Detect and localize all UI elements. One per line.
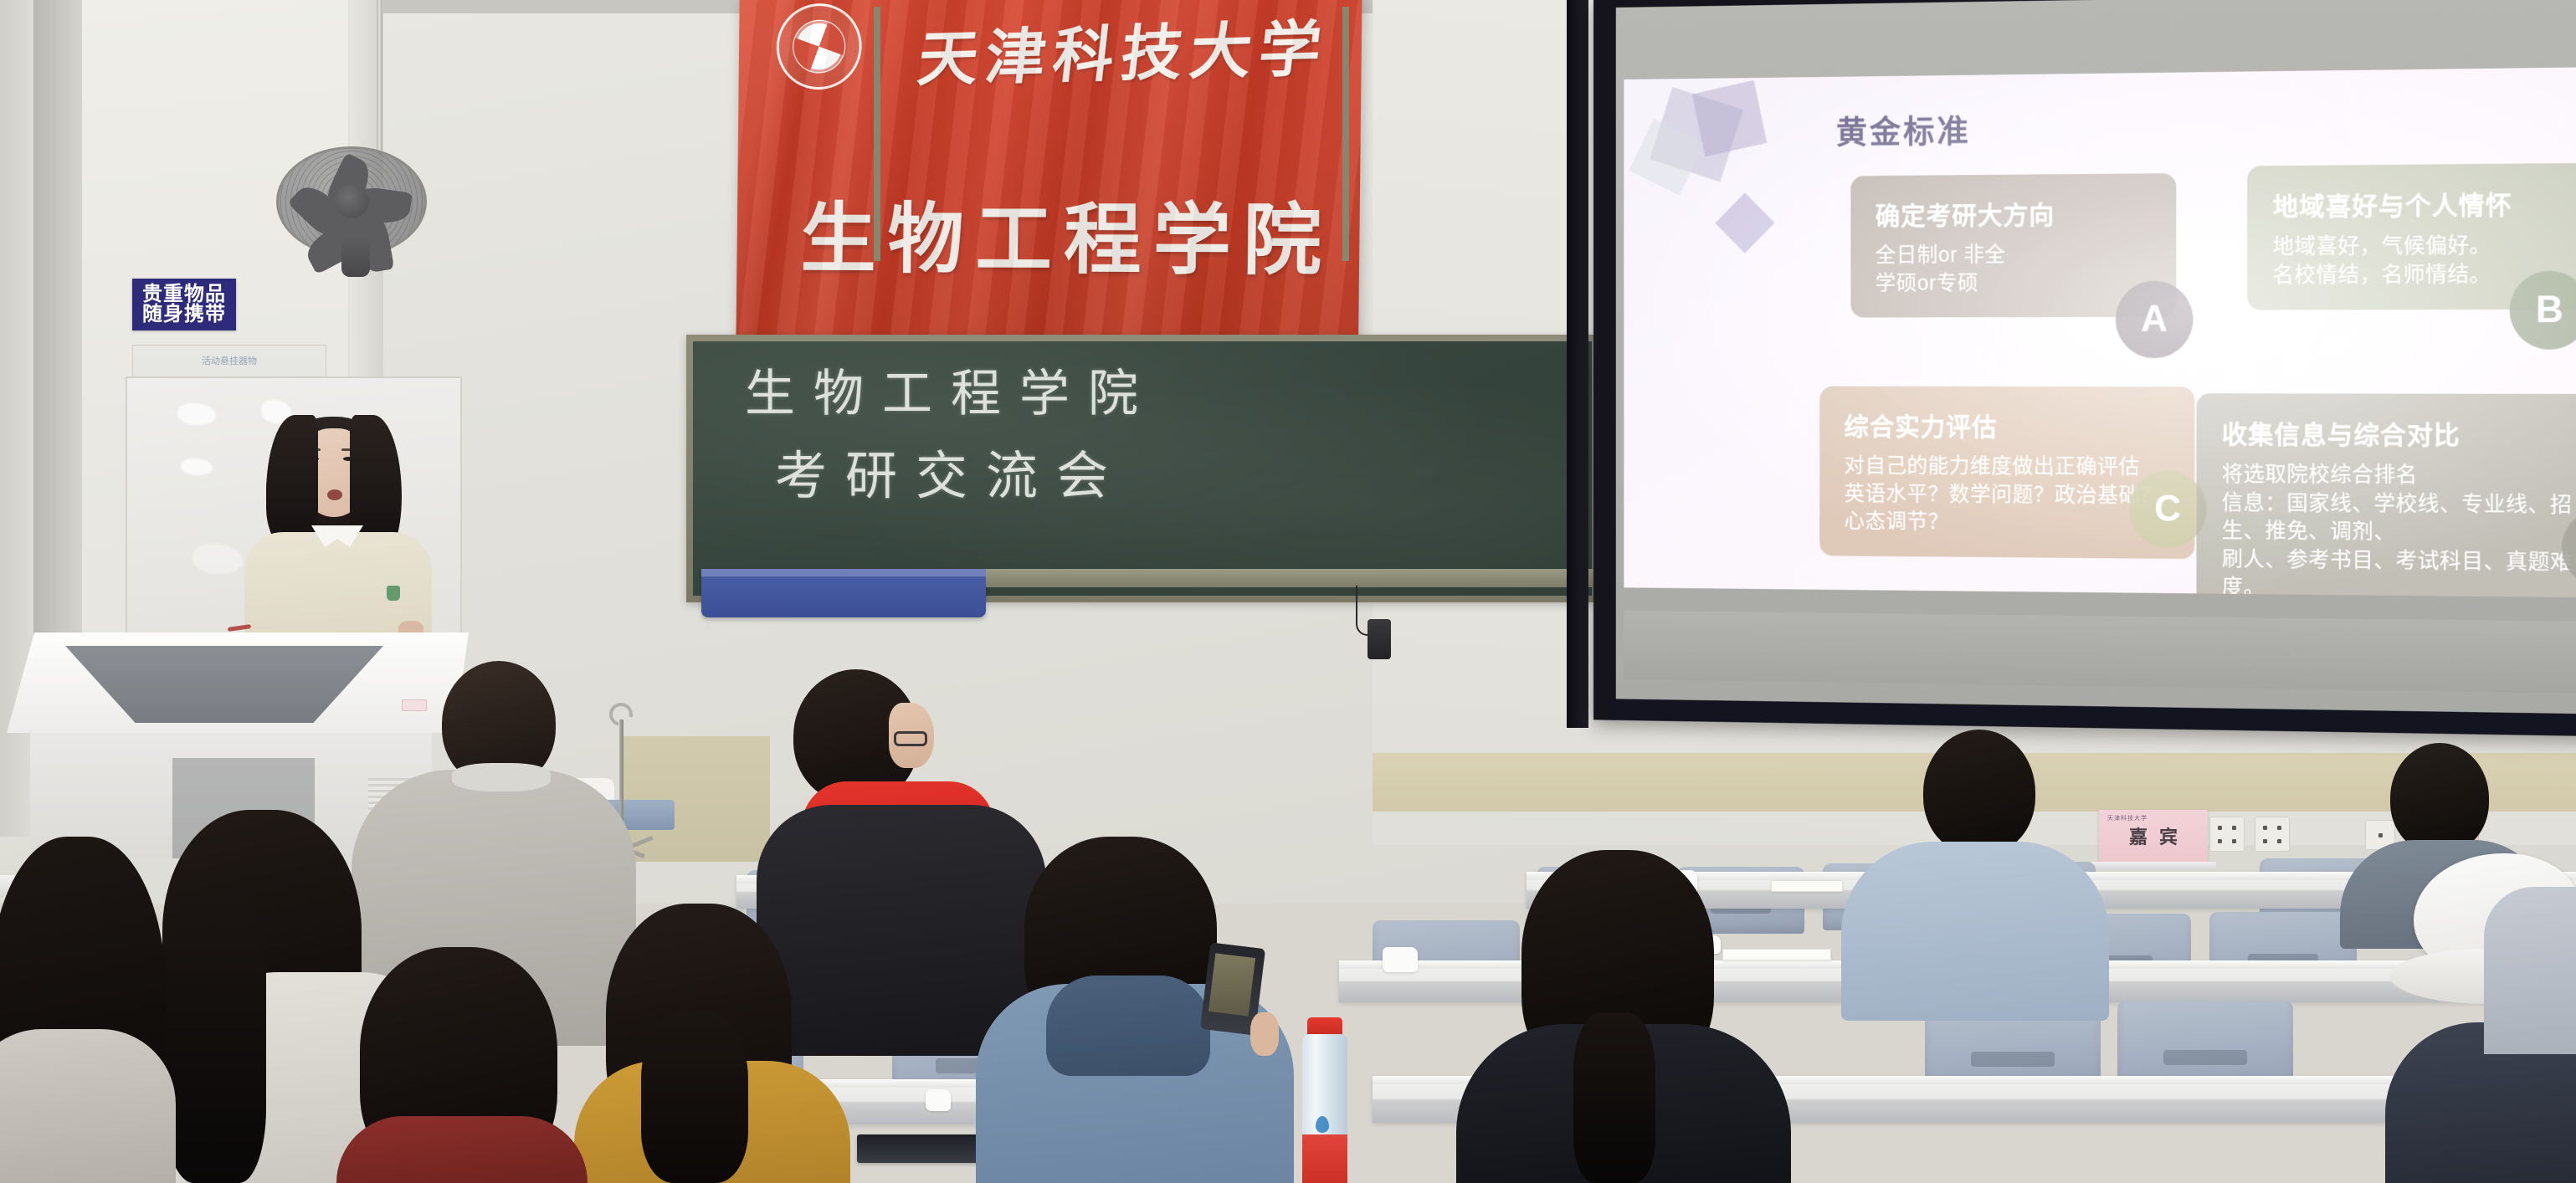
wall-mounted-device (1368, 619, 1391, 659)
blackboard: 生物工程学院 考研交流会 (686, 335, 1598, 602)
placard-university-logo: 天津科技大学 (2107, 814, 2148, 822)
card-a-badge: A (2116, 281, 2193, 358)
card-a-title: 确定考研大方向 (1876, 193, 2151, 232)
card-d-line-2: 信息：国家线、学校线、专业线、招生、推免、调剂、 (2222, 489, 2576, 548)
speaker-sweater-logo-icon (387, 586, 400, 601)
blackboard-surface: 生物工程学院 考研交流会 (693, 341, 1592, 596)
crumpled-tissue (926, 1089, 951, 1111)
screen-left-frame (1567, 0, 1588, 728)
projection-screen: 黄金标准 确定考研大方向 全日制or 非全 学硕or专硕 A 地域喜好与个人情怀… (1593, 0, 2576, 736)
card-c-line-1: 对自己的能力维度做出正确评估 (1845, 453, 2170, 482)
fan-pole-icon (377, 0, 382, 151)
audience-collar (452, 763, 551, 791)
whiteboard-smudge (181, 458, 213, 475)
wall-fan (276, 138, 427, 264)
projection-screen-surface: 黄金标准 确定考研大方向 全日制or 非全 学硕or专硕 A 地域喜好与个人情怀… (1616, 0, 2576, 715)
slide-decoration-diamond (1715, 192, 1774, 253)
card-d-title: 收集信息与综合对比 (2222, 413, 2576, 452)
fan-mount-icon (341, 237, 370, 277)
fan-hub-icon (334, 185, 369, 218)
paper-slip (1722, 949, 1831, 960)
phone-screen (1208, 953, 1255, 1016)
chalk-tray-lip (701, 569, 986, 576)
audience-hand (1250, 1012, 1279, 1056)
guest-placard: 天津科技大学 嘉宾 (2099, 810, 2208, 862)
blackboard-line-2: 考研交流会 (775, 433, 1126, 509)
glasses-icon (894, 731, 927, 746)
whiteboard-smudge (177, 403, 216, 425)
audience-torso (0, 1029, 176, 1183)
presentation-slide: 黄金标准 确定考研大方向 全日制or 非全 学硕or专硕 A 地域喜好与个人情怀… (1624, 67, 2576, 597)
bottle-label (1302, 1134, 1347, 1183)
audience-head (1923, 730, 2035, 855)
card-c-badge: C (2129, 470, 2207, 548)
speaker-mouth (327, 489, 342, 500)
paper-slip (1771, 880, 1843, 892)
screen-lower-blank (1624, 611, 2576, 694)
power-outlet-icon (2255, 817, 2290, 852)
bottle-logo-icon (1316, 1116, 1329, 1133)
audience-torso (336, 1116, 588, 1183)
blackboard-divider (1342, 7, 1349, 261)
placard-text: 嘉宾 (2117, 822, 2189, 849)
lecture-hall-photo: 贵重物品 随身携带 活动悬挂器物 天津科技大学 生物工程学院 生物工 (0, 0, 2576, 1183)
valuables-warning-sign: 贵重物品 随身携带 (132, 279, 236, 330)
card-c-title: 综合实力评估 (1845, 406, 2170, 443)
placard-stand (2091, 862, 2216, 870)
card-a-line-1: 全日制or 非全 (1876, 241, 2151, 270)
slide-title: 黄金标准 (1836, 105, 1971, 152)
slide-decoration-square (1692, 80, 1767, 157)
card-d-line-3: 刷人、参考书目、考试科目、真题难度。 (2222, 545, 2576, 597)
card-c-line-3: 心态调节？ (1845, 508, 2170, 538)
card-a-line-2: 学硕or专硕 (1876, 269, 2151, 298)
blackboard-line-1: 生物工程学院 (745, 353, 1157, 426)
tablet-device[interactable] (857, 1134, 983, 1163)
blackboard-divider (874, 7, 880, 261)
audience-ponytail (1573, 1012, 1655, 1183)
card-c-line-2: 英语水平？数学问题？政治基础？ (1845, 480, 2170, 510)
audience-torso (1841, 842, 2109, 1021)
banner-university-name: 天津科技大学 (914, 0, 1334, 98)
audience-torso (2484, 887, 2576, 1054)
hook-board-label: 活动悬挂器物 (202, 354, 257, 367)
slide-card-d: 收集信息与综合对比 将选取院校综合排名 信息：国家线、学校线、专业线、招生、推免… (2196, 393, 2576, 597)
lectern-label (402, 699, 427, 711)
card-d-line-1: 将选取院校综合排名 (2222, 461, 2576, 491)
whiteboard-smudge (192, 544, 243, 574)
university-seal-icon (776, 3, 862, 90)
audience-hair-strand (162, 895, 266, 1183)
blackboard-ledge (986, 569, 1600, 587)
valuables-sign-line2: 随身携带 (142, 305, 226, 325)
crumpled-tissue (1383, 947, 1418, 972)
denim-hood (1046, 976, 1210, 1076)
valuables-sign-line1: 贵重物品 (142, 284, 226, 305)
chalk-tray (701, 569, 986, 617)
audience-ponytail (641, 1011, 748, 1183)
power-outlet-icon (2209, 817, 2245, 852)
department-banner: 天津科技大学 生物工程学院 (736, 0, 1362, 357)
card-b-title: 地域喜好与个人情怀 (2273, 184, 2568, 223)
card-b-line-1: 地域喜好，气候偏好。 (2273, 232, 2568, 262)
audience-head (2390, 743, 2489, 853)
